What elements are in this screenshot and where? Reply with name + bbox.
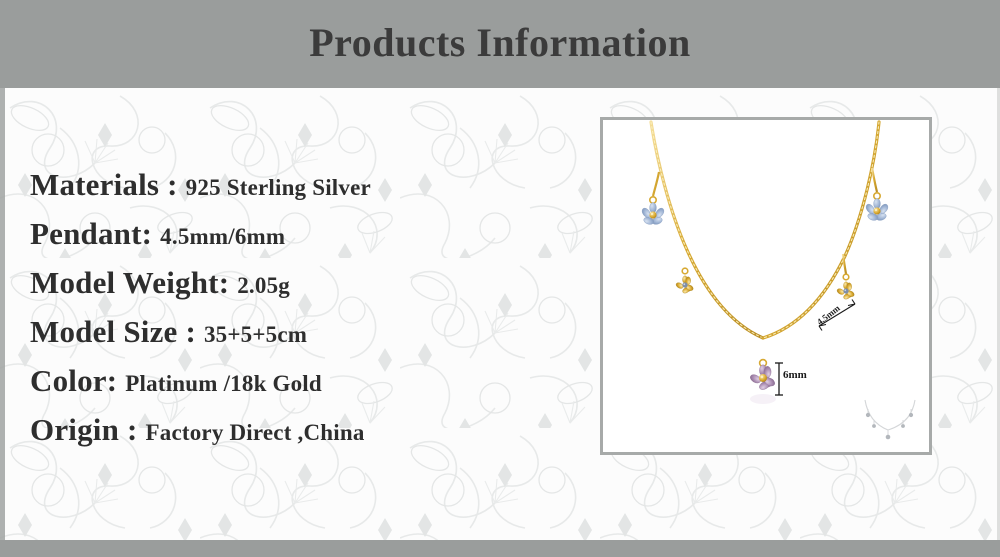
spec-row-color: Color: Platinum /18k Gold: [30, 356, 550, 405]
page-title: Products Information: [0, 19, 1000, 66]
spec-label-color: Color:: [30, 363, 117, 398]
spec-value-color: Platinum /18k Gold: [125, 371, 322, 396]
spec-label-model-weight: Model Weight:: [30, 265, 229, 300]
spec-value-model-size: 35+5+5cm: [204, 322, 307, 347]
spec-value-pendant: 4.5mm/6mm: [160, 224, 285, 249]
spec-value-model-weight: 2.05g: [237, 273, 290, 298]
spec-row-origin: Origin : Factory Direct ,China: [30, 405, 550, 454]
dimension-label-6mm: 6mm: [783, 369, 807, 381]
spec-label-model-size: Model Size :: [30, 314, 196, 349]
spec-row-model-weight: Model Weight: 2.05g: [30, 258, 550, 307]
spec-row-materials: Materials : 925 Sterling Silver: [30, 160, 550, 209]
specifications-list: Materials : 925 Sterling Silver Pendant:…: [30, 160, 550, 454]
product-photo-frame: 4.5mm 6mm: [600, 117, 932, 455]
necklace-illustration: [603, 120, 929, 452]
spec-label-materials: Materials :: [30, 167, 178, 202]
spec-row-model-size: Model Size : 35+5+5cm: [30, 307, 550, 356]
footer-bar: [0, 540, 1000, 557]
left-edge-strip: [0, 88, 5, 540]
header-banner: Products Information: [0, 0, 1000, 88]
product-information-page: Products Information Materials : 925 Ste…: [0, 0, 1000, 557]
spec-label-pendant: Pendant:: [30, 216, 152, 251]
spec-value-origin: Factory Direct ,China: [146, 420, 365, 445]
inset-platinum-thumbnail: [855, 396, 925, 448]
spec-value-materials: 925 Sterling Silver: [186, 175, 371, 200]
spec-row-pendant: Pendant: 4.5mm/6mm: [30, 209, 550, 258]
spec-label-origin: Origin :: [30, 412, 138, 447]
